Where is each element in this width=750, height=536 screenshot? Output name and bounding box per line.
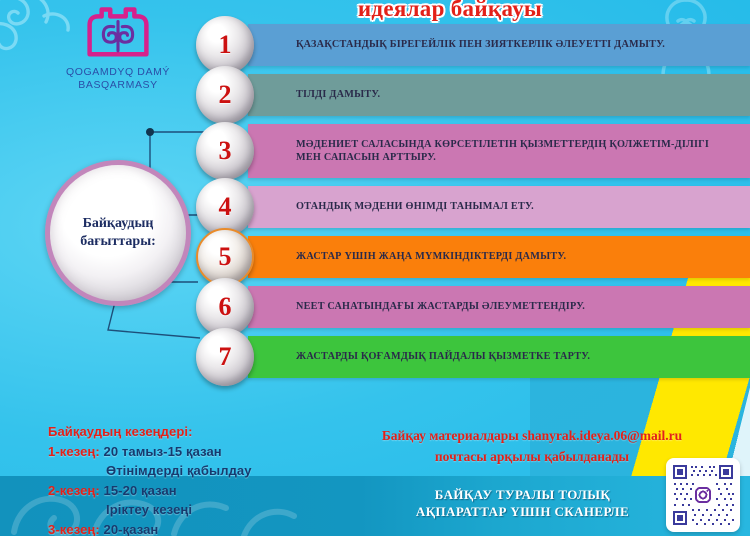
organization-logo: QOGAMDYQ DAMÝ BASQARMASY: [34, 4, 202, 92]
direction-row: ЖАСТАРДЫ ҚОҒАМДЫҚ ПАЙДАЛЫ ҚЫЗМЕТКЕ ТАРТУ…: [196, 336, 750, 378]
hub-label-line1: Байқаудың: [83, 216, 154, 231]
shanyrak-ornament-logo: [34, 4, 202, 63]
stage-1-value: 20 тамыз-15 қазан: [100, 444, 222, 459]
stage-3-label: 3-кезең:: [48, 522, 100, 536]
hub-label: Байқаудың бағыттары:: [80, 215, 156, 251]
submission-line2: почтасы арқылы қабылданады: [352, 446, 712, 467]
directions-list: ҚАЗАҚСТАНДЫҚ БІРЕГЕЙЛІК ПЕН ЗИЯТКЕРЛІК Ә…: [196, 24, 750, 386]
stages-heading: Байқаудың кезеңдері:: [48, 422, 252, 442]
stage-2-label: 2-кезең:: [48, 483, 100, 498]
scan-line2: АҚПАРАТТАР ҮШІН СКАНЕРЛЕ: [400, 503, 645, 520]
stage-3-value: 20-қазан: [100, 522, 159, 536]
stage-item: 2-кезең: 15-20 қазан: [48, 481, 252, 501]
stage-1-label: 1-кезең:: [48, 444, 100, 459]
stage-item: 3-кезең: 20-қазан: [48, 520, 252, 536]
stage-2-value: 15-20 қазан: [100, 483, 177, 498]
submission-line1: Байқау материалдары shanyrak.ideya.06@ma…: [352, 425, 712, 446]
hub-label-line2: бағыттары:: [80, 234, 156, 249]
direction-bar: ЖАСТАРДЫ ҚОҒАМДЫҚ ПАЙДАЛЫ ҚЫЗМЕТКЕ ТАРТУ…: [248, 336, 750, 378]
logo-text-line1: QOGAMDYQ DAMÝ: [34, 66, 202, 79]
stage-2-note: Іріктеу кезеңі: [48, 500, 252, 520]
instagram-icon: [694, 486, 712, 504]
direction-row: NEET САНАТЫНДАҒЫ ЖАСТАРДЫ ӘЛЕУМЕТТЕНДІРУ…: [196, 286, 750, 328]
scan-line1: БАЙҚАУ ТУРАЛЫ ТОЛЫҚ: [400, 486, 645, 503]
stage-1-note: Өтінімдерді қабылдау: [48, 461, 252, 481]
direction-number-badge: 7: [196, 328, 254, 386]
direction-bar: ТІЛДІ ДАМЫТУ.: [248, 74, 750, 116]
direction-bar: ОТАНДЫҚ МӘДЕНИ ӨНІМДІ ТАНЫМАЛ ЕТУ.: [248, 186, 750, 228]
direction-bar: ЖАСТАР ҮШІН ЖАҢА МҮМКІНДІКТЕРДІ ДАМЫТУ.: [248, 236, 750, 278]
direction-row: ТІЛДІ ДАМЫТУ.2: [196, 74, 750, 116]
submission-block: Байқау материалдары shanyrak.ideya.06@ma…: [352, 425, 712, 467]
stage-item: 1-кезең: 20 тамыз-15 қазан: [48, 442, 252, 462]
direction-bar: МӘДЕНИЕТ САЛАСЫНДА КӨРСЕТІЛЕТІН ҚЫЗМЕТТЕ…: [248, 124, 750, 178]
direction-row: ЖАСТАР ҮШІН ЖАҢА МҮМКІНДІКТЕРДІ ДАМЫТУ.5: [196, 236, 750, 278]
stages-block: Байқаудың кезеңдері: 1-кезең: 20 тамыз-1…: [48, 422, 252, 536]
direction-bar: NEET САНАТЫНДАҒЫ ЖАСТАРДЫ ӘЛЕУМЕТТЕНДІРУ…: [248, 286, 750, 328]
direction-bar: ҚАЗАҚСТАНДЫҚ БІРЕГЕЙЛІК ПЕН ЗИЯТКЕРЛІК Ә…: [248, 24, 750, 66]
instagram-qr-code[interactable]: [666, 458, 740, 532]
direction-row: МӘДЕНИЕТ САЛАСЫНДА КӨРСЕТІЛЕТІН ҚЫЗМЕТТЕ…: [196, 124, 750, 178]
page-title: идеялар байқауы: [240, 0, 660, 22]
direction-row: ҚАЗАҚСТАНДЫҚ БІРЕГЕЙЛІК ПЕН ЗИЯТКЕРЛІК Ә…: [196, 24, 750, 66]
direction-number-badge: 3: [196, 122, 254, 180]
logo-text-line2: BASQARMASY: [34, 79, 202, 92]
scan-instructions: БАЙҚАУ ТУРАЛЫ ТОЛЫҚ АҚПАРАТТАР ҮШІН СКАН…: [400, 486, 645, 520]
direction-row: ОТАНДЫҚ МӘДЕНИ ӨНІМДІ ТАНЫМАЛ ЕТУ.4: [196, 186, 750, 228]
poster-canvas: QOGAMDYQ DAMÝ BASQARMASY идеялар байқауы…: [0, 0, 750, 536]
direction-number-badge: 2: [196, 66, 254, 124]
hub-circle: Байқаудың бағыттары:: [45, 160, 191, 306]
